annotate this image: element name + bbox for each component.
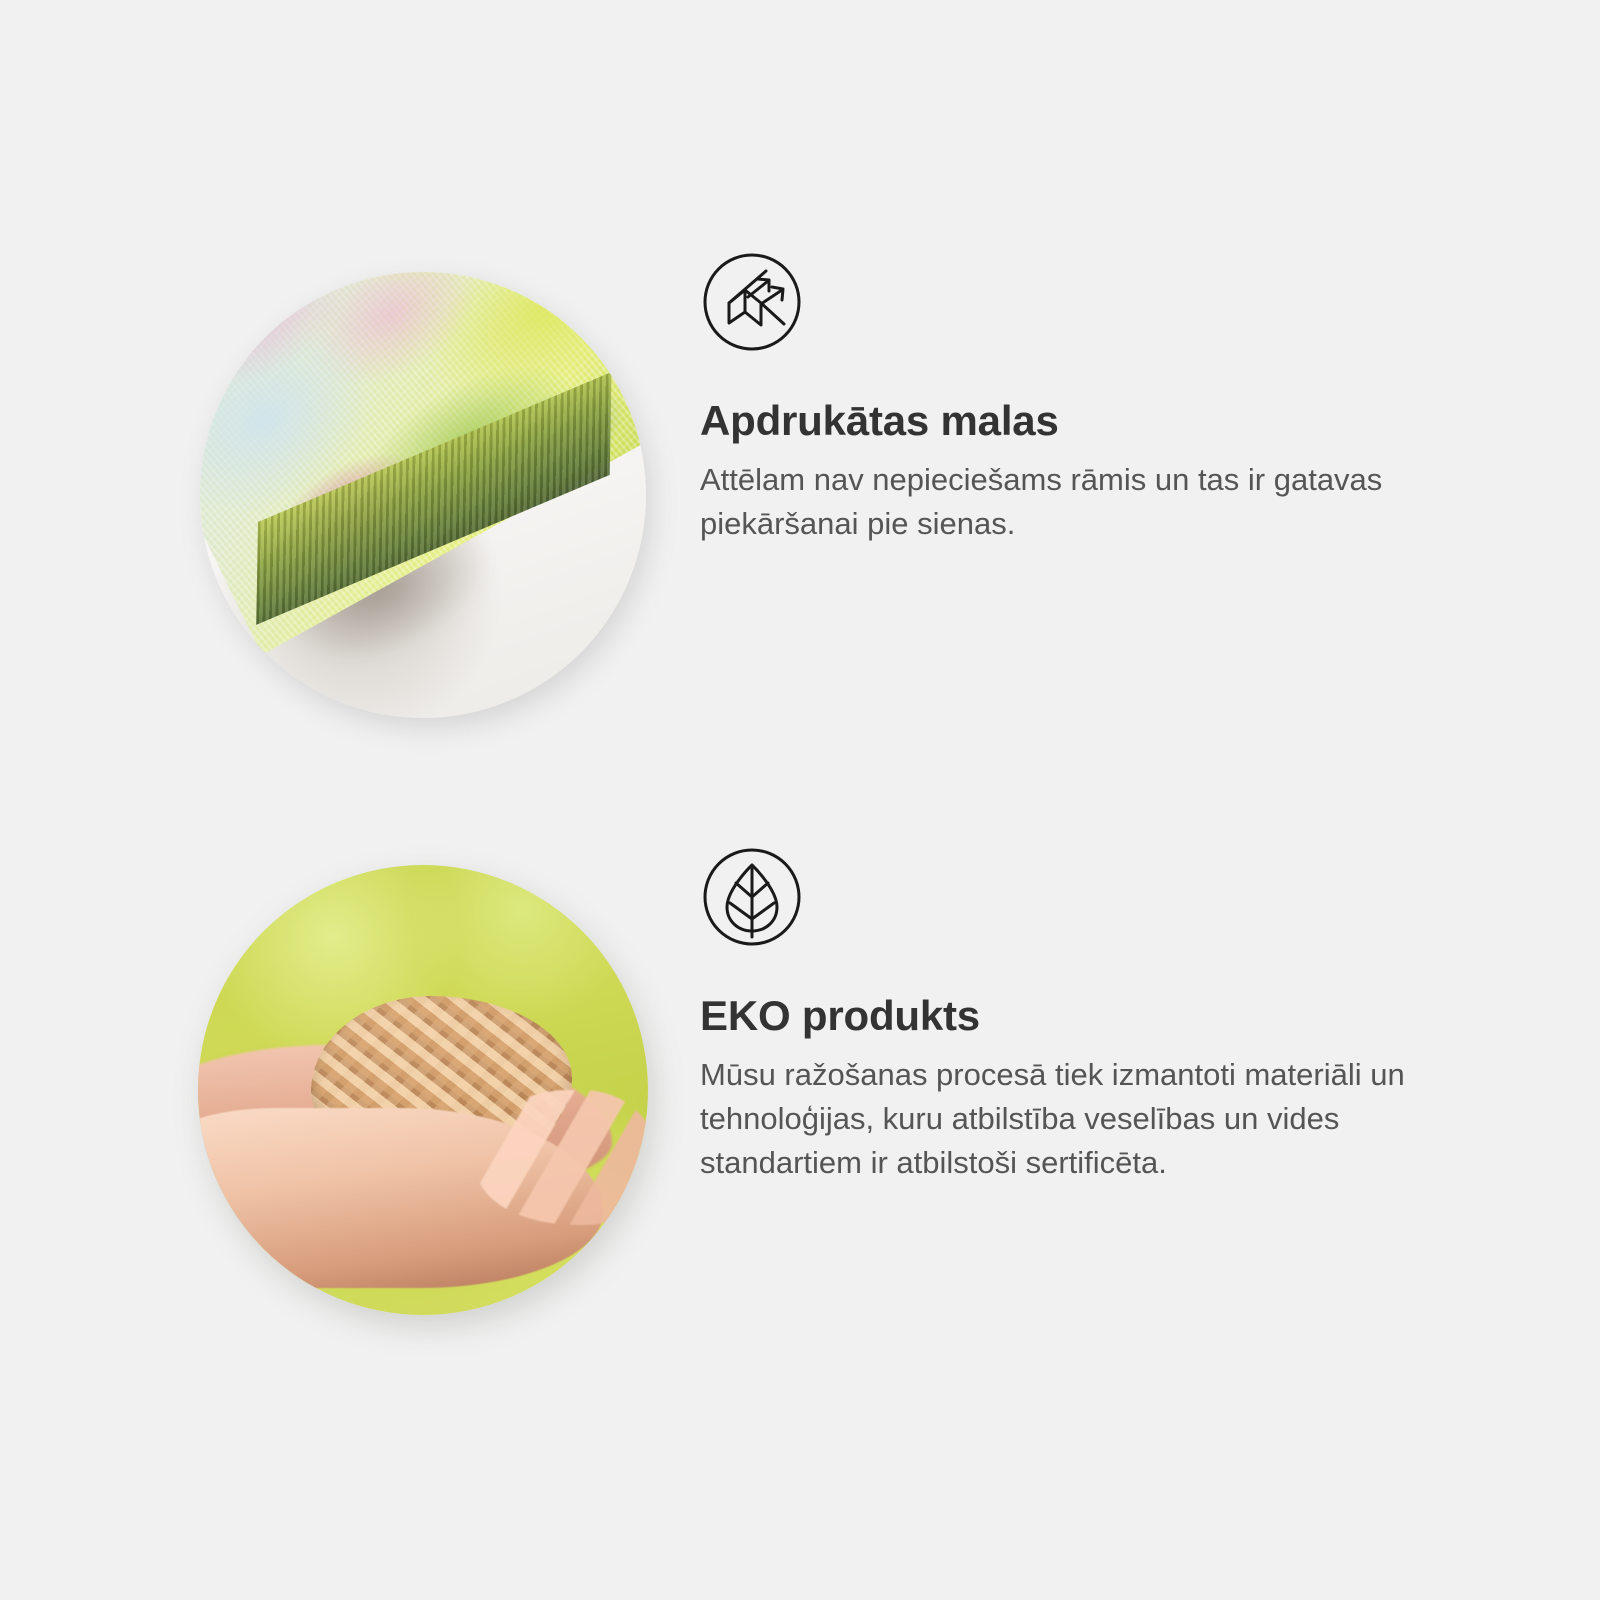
feature-title-printed-edges: Apdrukātas malas [700,398,1430,444]
feature-block-printed-edges: Apdrukātas malas Attēlam nav nepieciešam… [0,250,1600,740]
leaf-icon [700,845,804,949]
canvas-corner-photo [200,272,646,718]
feature-title-eco-product: EKO produkts [700,993,1430,1039]
printed-edges-icon [700,250,804,354]
feature-body-eco-product: Mūsu ražošanas procesā tiek izmantoti ma… [700,1053,1430,1185]
feature-body-printed-edges: Attēlam nav nepieciešams rāmis un tas ir… [700,458,1430,546]
feature-media-eco-product [0,845,700,1335]
wood-chips-in-hands-photo [198,865,648,1315]
feature-highlights-page: Apdrukātas malas Attēlam nav nepieciešam… [0,0,1600,1600]
feature-content-printed-edges: Apdrukātas malas Attēlam nav nepieciešam… [700,250,1430,546]
feature-content-eco-product: EKO produkts Mūsu ražošanas procesā tiek… [700,845,1430,1185]
feature-block-eco-product: EKO produkts Mūsu ražošanas procesā tiek… [0,845,1600,1335]
feature-media-printed-edges [0,250,700,740]
